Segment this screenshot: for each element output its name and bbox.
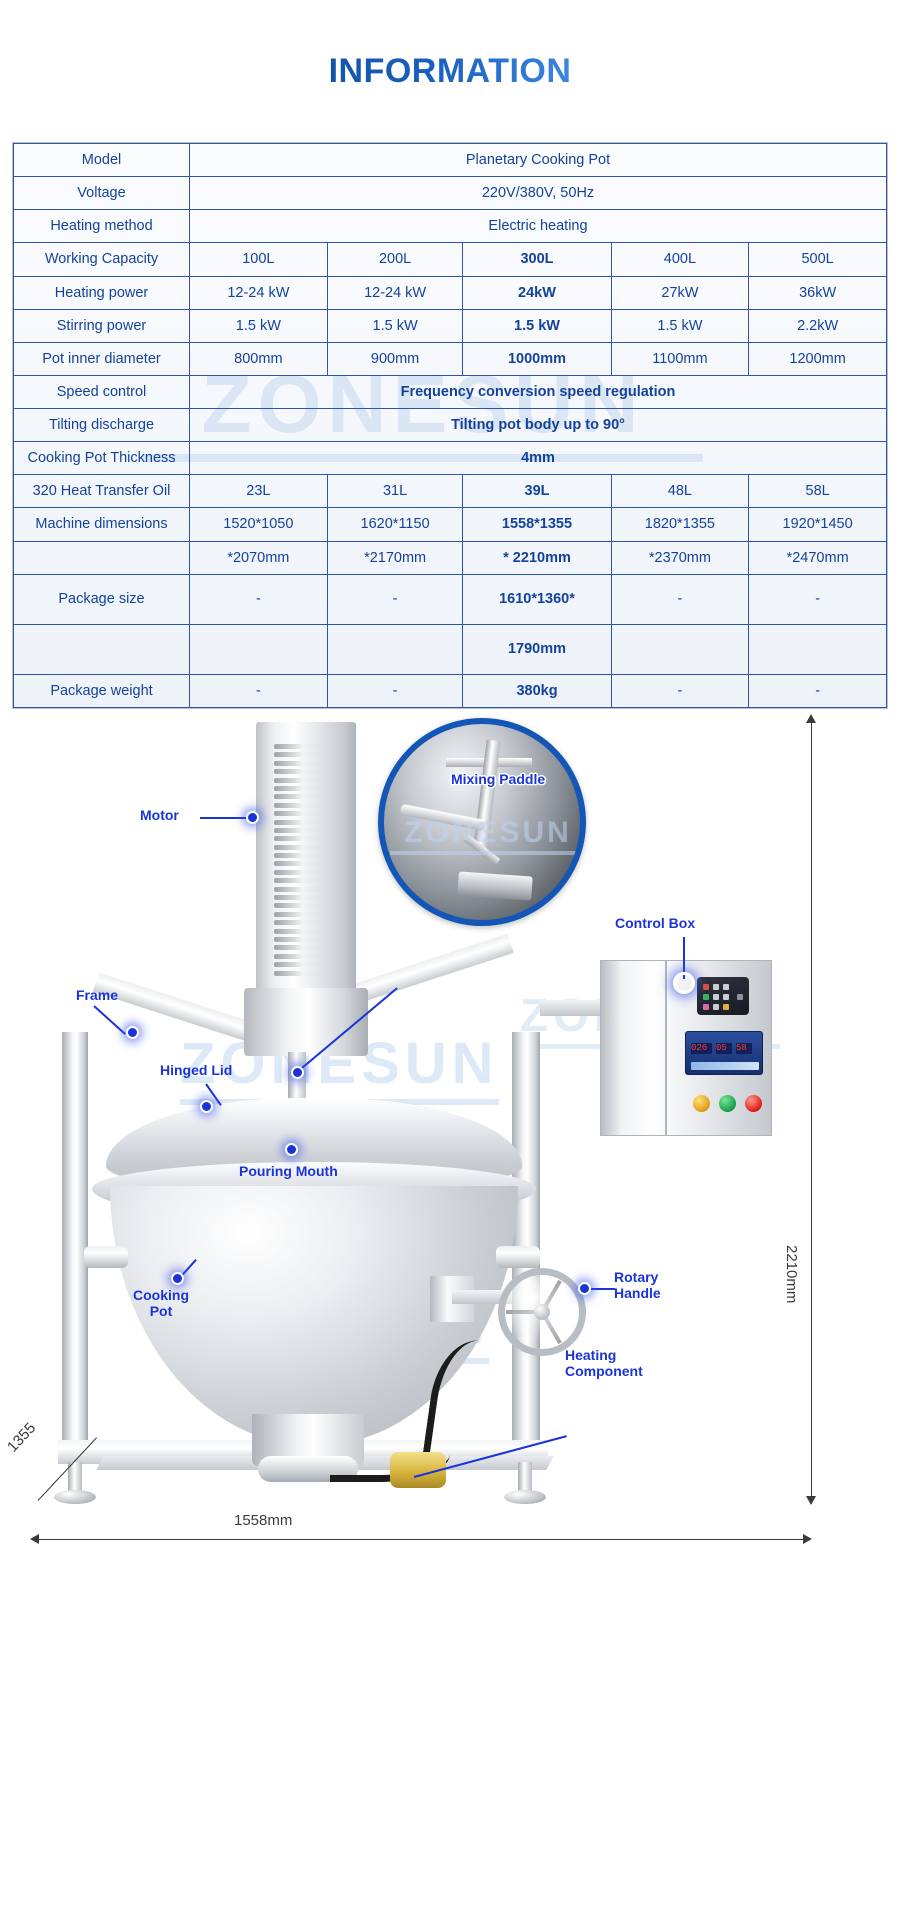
motor-fin [274,870,338,875]
control-box-callout-ring[interactable] [673,972,695,994]
table-row: *2070mm*2170mm* 2210mm*2370mm*2470mm [14,541,887,574]
table-row-label: Speed control [14,375,190,408]
table-cell: 100L [190,243,328,276]
motor-fin [274,912,338,917]
table-cell: 1200mm [749,342,887,375]
dimension-arrow-left [30,1534,39,1544]
gearbox-housing [244,988,368,1056]
table-cell-merged: Tilting pot body up to 90° [190,409,887,442]
table-cell [190,624,328,674]
table-cell: - [611,574,749,624]
keypad-indicator [737,994,743,1000]
motor-fin [274,769,338,774]
motor-fin [274,954,338,959]
dimension-text-width: 1558mm [234,1512,292,1529]
hmi-keypad-panel[interactable] [697,977,749,1015]
pot-trunnion-left [84,1246,128,1268]
motor-fin [274,971,338,976]
table-cell: 39L [463,475,611,508]
table-cell [327,624,463,674]
table-row: Tilting dischargeTilting pot body up to … [14,409,887,442]
table-cell: - [327,674,463,707]
frame-callout-dot[interactable] [126,1026,139,1039]
motor-fin [274,778,338,783]
table-cell: *2470mm [749,541,887,574]
table-cell: - [749,574,887,624]
table-cell-merged: Electric heating [190,210,887,243]
hinged-lid-callout-dot[interactable] [200,1100,213,1113]
table-row: Package weight--380kg-- [14,674,887,707]
table-row: 320 Heat Transfer Oil23L31L39L48L58L [14,475,887,508]
motor-fin [274,929,338,934]
motor-fin [274,803,338,808]
table-row: Speed controlFrequency conversion speed … [14,375,887,408]
table-row: Cooking Pot Thickness4mm [14,442,887,475]
table-row: Package size--1610*1360*-- [14,574,887,624]
callout-label-heating-component: Heating Component [565,1348,643,1379]
table-row-label [14,541,190,574]
table-row-label: Package weight [14,674,190,707]
table-row: 1790mm [14,624,887,674]
cooking-pot-callout-dot[interactable] [171,1272,184,1285]
frame-leg-left [62,1032,88,1450]
callout-label-cooking-pot: Cooking Pot [133,1288,189,1319]
display-value-2: 05 [716,1043,732,1054]
frame-leader-line [93,1005,126,1035]
mixing-paddle-magnifier-inset: ZONESUN [378,718,586,926]
table-cell: 31L [327,475,463,508]
keypad-key[interactable] [703,1004,709,1010]
motor-fin [274,794,338,799]
table-row: Heating power12-24 kW12-24 kW24kW27kW36k… [14,276,887,309]
table-row-label: 320 Heat Transfer Oil [14,475,190,508]
table-row: Machine dimensions1520*10501620*11501558… [14,508,887,541]
table-cell: 23L [190,475,328,508]
leveling-foot-pad-right [504,1490,546,1504]
pouring-mouth-callout-dot[interactable] [285,1143,298,1156]
rotary-handle-leader-line [587,1288,615,1290]
table-row-label: Voltage [14,177,190,210]
magnifier-watermark: ZONESUN [390,816,586,855]
table-cell: 1000mm [463,342,611,375]
table-row-label: Working Capacity [14,243,190,276]
table-cell: 1520*1050 [190,508,328,541]
dimension-text-depth: 1355 [4,1420,39,1456]
watermark-text: ZONESUN [404,816,572,849]
keypad-key[interactable] [723,1004,729,1010]
motor-fin [274,920,338,925]
table-row-label: Stirring power [14,309,190,342]
rotary-handle-callout-dot[interactable] [578,1282,591,1295]
page-title: INFORMATION [329,52,572,91]
motor-fin [274,945,338,950]
table-cell: 1.5 kW [611,309,749,342]
table-cell: *2370mm [611,541,749,574]
table-cell: - [611,674,749,707]
table-row-label: Model [14,144,190,177]
table-cell [749,624,887,674]
motor-leader-line [200,817,250,819]
motor-fin [274,744,338,749]
specification-table: ModelPlanetary Cooking PotVoltage220V/38… [13,143,887,708]
callout-label-mixing-paddle: Mixing Paddle [451,772,545,788]
leveling-foot-pad-left [54,1490,96,1504]
motor-fin [274,903,338,908]
table-cell: 1820*1355 [611,508,749,541]
keypad-key[interactable] [723,994,729,1000]
motor-fin [274,895,338,900]
motor-fin [274,836,338,841]
table-row: Stirring power1.5 kW1.5 kW1.5 kW1.5 kW2.… [14,309,887,342]
table-cell: 800mm [190,342,328,375]
table-cell: 27kW [611,276,749,309]
table-cell: *2170mm [327,541,463,574]
table-cell-merged: Planetary Cooking Pot [190,144,887,177]
table-cell: 1920*1450 [749,508,887,541]
table-cell [611,624,749,674]
keypad-key[interactable] [713,994,719,1000]
table-cell: 48L [611,475,749,508]
motor-fin [274,962,338,967]
callout-label-hinged-lid: Hinged Lid [160,1063,232,1079]
callout-label-rotary-handle: Rotary Handle [614,1270,661,1301]
table-cell: 24kW [463,276,611,309]
table-row-label [14,624,190,674]
motor-fin [274,786,338,791]
power-button-yellow[interactable] [693,1095,710,1112]
table-cell: - [190,574,328,624]
table-cell: 1620*1150 [327,508,463,541]
table-cell: 58L [749,475,887,508]
table-cell: 36kW [749,276,887,309]
dimension-text-height: 2210mm [783,1245,800,1303]
motor-fin [274,887,338,892]
table-row-label: Heating power [14,276,190,309]
stop-button-red[interactable] [745,1095,762,1112]
motor-fin [274,878,338,883]
callout-label-pouring-mouth: Pouring Mouth [239,1164,338,1180]
motor-housing [256,722,356,992]
table-row: Pot inner diameter800mm900mm1000mm1100mm… [14,342,887,375]
table-row-label: Tilting discharge [14,409,190,442]
table-cell: - [190,674,328,707]
watermark-underline [390,851,586,855]
start-button-green[interactable] [719,1095,736,1112]
handwheel-hub [534,1304,550,1320]
table-cell: 1100mm [611,342,749,375]
motor-fin [274,861,338,866]
spec-table-container: ZONESUN ModelPlanetary Cooking PotVoltag… [12,142,888,709]
dimension-line-height [811,718,812,1504]
dimension-line-width [38,1539,810,1540]
callout-label-motor: Motor [140,808,179,824]
table-row: Heating methodElectric heating [14,210,887,243]
paddle-blade [457,871,532,900]
motor-fin [274,752,338,757]
machine-diagram: ZONESUN ZONESUN ZONESUN [0,700,900,1929]
dimension-arrow-up [806,714,816,723]
table-cell: 1.5 kW [327,309,463,342]
motor-callout-dot[interactable] [246,811,259,824]
table-cell-merged: 4mm [190,442,887,475]
motor-fin [274,937,338,942]
display-value-3: 58 [736,1043,752,1054]
table-row-label: Cooking Pot Thickness [14,442,190,475]
dimension-arrow-down [806,1496,816,1505]
table-cell: 400L [611,243,749,276]
title-section: INFORMATION [0,0,900,91]
dimension-arrow-right [803,1534,812,1544]
table-cell: 1.5 kW [190,309,328,342]
table-cell: 500L [749,243,887,276]
table-cell: 1790mm [463,624,611,674]
pot-trunnion-right [496,1246,540,1268]
table-cell: * 2210mm [463,541,611,574]
motor-fin [274,761,338,766]
table-row: ModelPlanetary Cooking Pot [14,144,887,177]
display-button-row[interactable] [691,1062,759,1070]
keypad-key[interactable] [723,984,729,990]
display-value-1: 026 [691,1043,712,1054]
keypad-key[interactable] [713,1004,719,1010]
motor-fin [274,820,338,825]
table-row-label: Machine dimensions [14,508,190,541]
table-cell: 12-24 kW [327,276,463,309]
table-cell: 2.2kW [749,309,887,342]
table-cell: 900mm [327,342,463,375]
temperature-controller-display: 026 05 58 [685,1031,763,1075]
table-cell: 380kg [463,674,611,707]
control-box-door-seam [665,961,667,1135]
table-row-label: Package size [14,574,190,624]
table-cell: 300L [463,243,611,276]
table-row: Voltage220V/380V, 50Hz [14,177,887,210]
table-cell: 1.5 kW [463,309,611,342]
control-box-support-arm [540,1000,602,1016]
table-row-label: Heating method [14,210,190,243]
table-cell: *2070mm [190,541,328,574]
table-cell-merged: 220V/380V, 50Hz [190,177,887,210]
motor-fin [274,828,338,833]
keypad-key[interactable] [703,984,709,990]
keypad-key[interactable] [713,984,719,990]
callout-label-frame: Frame [76,988,118,1004]
motor-fin [274,811,338,816]
table-row: Working Capacity100L200L300L400L500L [14,243,887,276]
rotary-handwheel[interactable] [498,1268,586,1356]
table-cell: 200L [327,243,463,276]
mixing-paddle-callout-dot[interactable] [291,1066,304,1079]
table-cell: - [327,574,463,624]
motor-cooling-fins [274,744,338,979]
table-cell-merged: Frequency conversion speed regulation [190,375,887,408]
table-cell: 12-24 kW [190,276,328,309]
motor-fin [274,853,338,858]
table-cell: - [749,674,887,707]
table-row-label: Pot inner diameter [14,342,190,375]
motor-fin [274,845,338,850]
keypad-key[interactable] [703,994,709,1000]
table-cell: 1610*1360* [463,574,611,624]
callout-label-control-box: Control Box [615,916,695,932]
table-cell: 1558*1355 [463,508,611,541]
